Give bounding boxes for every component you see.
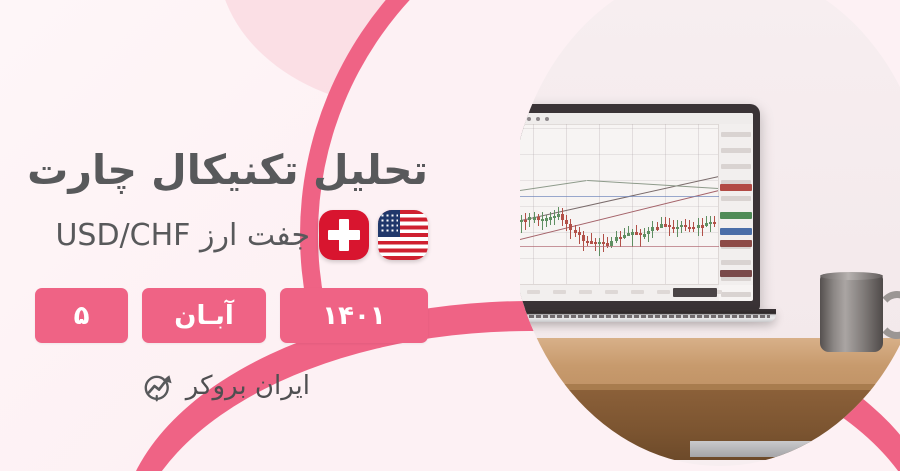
candlestick-wick — [624, 228, 625, 239]
price-tick-label — [721, 164, 751, 169]
date-badges: ۱۴۰۱ آبـان ۵ — [35, 288, 428, 343]
candlestick-wick — [529, 213, 530, 227]
candlestick-wick — [698, 218, 699, 236]
candlestick-wick — [661, 217, 662, 228]
candlestick — [627, 233, 630, 236]
candlestick — [631, 232, 634, 235]
candlestick-wick — [714, 216, 715, 226]
candlestick-wick — [579, 227, 580, 243]
swiss-cross-horizontal — [328, 230, 360, 240]
price-marker-tag — [720, 240, 752, 247]
toolbar-icon — [536, 117, 540, 121]
candlestick — [590, 241, 593, 244]
candlestick-wick — [702, 218, 703, 236]
laptop-base — [520, 309, 776, 322]
candlestick-wick — [603, 234, 604, 251]
mug-body — [820, 274, 883, 352]
candlestick-wick — [546, 215, 547, 228]
candlestick-wick — [693, 222, 694, 232]
candlestick-wick — [710, 216, 711, 232]
candlestick-wick — [685, 219, 686, 231]
candlestick-wick — [562, 208, 563, 226]
candlestick-wick — [550, 212, 551, 225]
candlestick — [610, 241, 613, 245]
laptop-screen — [520, 113, 753, 301]
laptop — [520, 104, 760, 334]
chart-level-line — [520, 196, 719, 197]
candlestick — [635, 232, 638, 235]
candlestick — [688, 227, 691, 230]
time-tick-label — [631, 290, 644, 294]
laptop-lid — [520, 104, 760, 311]
candlestick — [549, 217, 552, 220]
candlestick — [647, 231, 650, 234]
time-tick-label — [657, 290, 670, 294]
candlestick-wick — [616, 231, 617, 244]
candlestick-wick — [587, 236, 588, 246]
candlestick — [565, 220, 568, 224]
candlestick-wick — [566, 215, 567, 232]
price-marker-tag — [720, 212, 752, 219]
candlestick — [561, 214, 564, 220]
candlestick — [668, 225, 671, 228]
us-stars — [380, 213, 398, 234]
chart-grid — [520, 124, 719, 285]
toolbar-icon — [545, 117, 549, 121]
candlestick-wick — [591, 233, 592, 244]
price-marker-tag — [720, 184, 752, 191]
candlestick-wick — [648, 227, 649, 241]
candlestick-wick — [644, 228, 645, 239]
candlestick — [574, 230, 577, 233]
currency-pair-text: جفت ارز USD/CHF — [55, 218, 310, 253]
toolbar-icon — [527, 117, 531, 121]
candlestick — [524, 220, 527, 223]
candlestick — [623, 235, 626, 238]
photo-clip — [520, 0, 900, 471]
candlestick — [697, 225, 700, 228]
candlestick-wick — [665, 217, 666, 226]
candlestick-wick — [558, 207, 559, 220]
currency-pair-label: جفت ارز — [200, 218, 310, 253]
growth-chart-arrow-icon — [141, 368, 177, 404]
candlestick — [705, 223, 708, 226]
candlestick-wick — [628, 226, 629, 236]
candlestick-wick — [542, 212, 543, 230]
chart-level-line — [520, 246, 719, 247]
candlestick-wick — [689, 220, 690, 232]
candlestick-wick — [652, 221, 653, 238]
price-tick-label — [721, 196, 751, 201]
candlestick-wick — [525, 213, 526, 230]
time-tick-label — [553, 290, 566, 294]
candlestick — [602, 242, 605, 245]
price-marker-tag — [720, 228, 752, 235]
currency-pair-symbol: USD/CHF — [55, 218, 190, 253]
technical-analysis-banner: تحلیل تکنیکال چارت جفت ارز USD/CHF ۱۴۰۱ … — [0, 0, 900, 471]
candlestick-wick — [632, 229, 633, 247]
candlestick — [569, 224, 572, 231]
laptop-keyboard — [520, 315, 770, 318]
candlestick — [684, 225, 687, 228]
candlestick — [586, 241, 589, 244]
candlestick-wick — [657, 222, 658, 231]
candlestick-wick — [554, 210, 555, 225]
candlestick — [582, 235, 585, 241]
us-canton — [378, 210, 400, 237]
candlestick-wick — [620, 231, 621, 246]
time-tick-label — [605, 290, 618, 294]
candlestick — [672, 227, 675, 230]
candlestick — [533, 217, 536, 220]
candlestick-wick — [595, 238, 596, 251]
candlestick — [643, 234, 646, 237]
candlestick — [553, 216, 556, 219]
candlestick — [541, 219, 544, 222]
brand-name: ایران بروکر — [186, 371, 310, 401]
photo-desk-shelf — [690, 441, 900, 457]
price-marker-tag — [720, 270, 752, 277]
candlestick — [520, 220, 523, 223]
candlestick — [528, 217, 531, 220]
candlestick — [676, 227, 679, 230]
candlestick-wick — [636, 225, 637, 234]
laptop-photo — [520, 0, 900, 471]
candlestick — [680, 225, 683, 228]
time-tick-label — [527, 290, 540, 294]
candlestick — [660, 224, 663, 228]
badge-year: ۱۴۰۱ — [280, 288, 428, 343]
candlestick — [709, 222, 712, 225]
price-tick-label — [721, 292, 751, 297]
currency-pair-row: جفت ارز USD/CHF — [55, 210, 428, 260]
time-tick-label — [579, 290, 592, 294]
chart-price-axis — [718, 124, 753, 285]
candlestick-wick — [681, 221, 682, 234]
candlestick — [598, 242, 601, 245]
candlestick — [615, 237, 618, 241]
candlestick — [594, 242, 597, 245]
candlestick-wick — [677, 220, 678, 237]
candlestick-wick — [538, 214, 539, 226]
candlestick-wick — [575, 225, 576, 237]
candlestick-wick — [706, 216, 707, 226]
price-tick-label — [721, 260, 751, 265]
price-tick-label — [721, 148, 751, 153]
candlestick-wick — [534, 212, 535, 222]
brand-logo: ایران بروکر — [141, 368, 310, 404]
candlestick — [557, 214, 560, 217]
candlestick-wick — [521, 215, 522, 233]
candlestick-wick — [570, 219, 571, 239]
badge-day: ۵ — [35, 288, 128, 343]
candlestick — [537, 217, 540, 220]
candlestick-wick — [673, 220, 674, 233]
candlestick — [664, 224, 667, 227]
candlestick — [701, 225, 704, 228]
ch-flag-icon — [319, 210, 369, 260]
candlestick — [713, 222, 716, 225]
candlestick — [651, 227, 654, 231]
candlestick — [692, 227, 695, 230]
mug-rim — [820, 272, 883, 280]
candlestick — [656, 227, 659, 230]
badge-month: آبـان — [142, 288, 266, 343]
candlestick-wick — [583, 231, 584, 251]
candlestick — [578, 232, 581, 235]
chart-clock-badge — [673, 288, 717, 297]
page-title: تحلیل تکنیکال چارت — [28, 148, 428, 193]
banner-content: تحلیل تکنیکال چارت جفت ارز USD/CHF ۱۴۰۱ … — [0, 0, 470, 471]
candlestick — [639, 233, 642, 236]
chart-time-axis — [520, 284, 719, 301]
candlestick-wick — [640, 229, 641, 247]
candlestick — [619, 237, 622, 240]
candlestick — [545, 218, 548, 221]
candlestick-wick — [669, 218, 670, 236]
price-tick-label — [721, 132, 751, 137]
toolbar-icon — [520, 117, 522, 121]
us-flag-icon — [378, 210, 428, 260]
